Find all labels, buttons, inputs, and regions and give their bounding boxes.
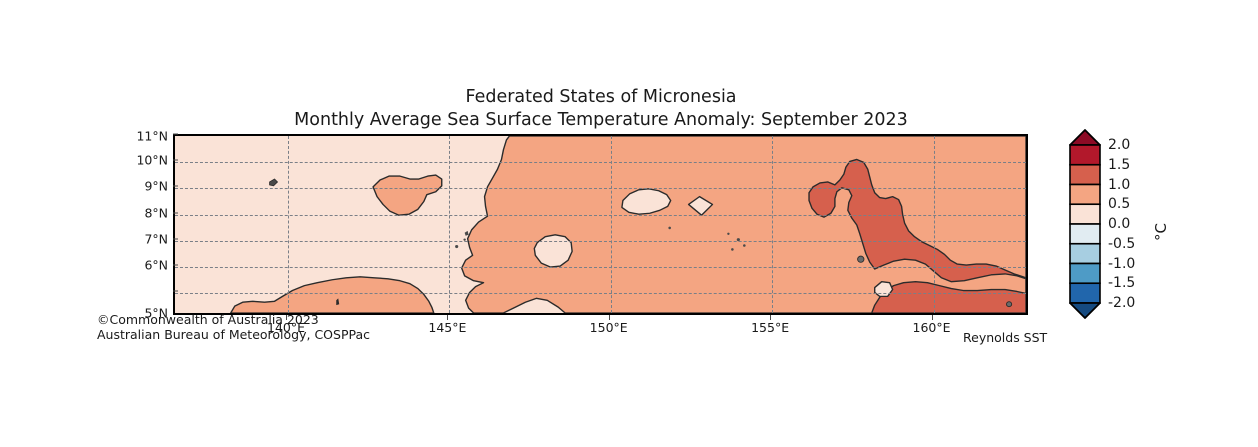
xtick-label-145E: 145°E — [428, 320, 466, 335]
xtick-mark-150E — [609, 315, 610, 320]
colorbar-unit-label: °C — [1152, 223, 1170, 241]
ytick-mark-10N — [173, 160, 178, 161]
credit-line-2: Australian Bureau of Meteorology, COSPPa… — [97, 328, 370, 343]
title-line-2: Monthly Average Sea Surface Temperature … — [173, 109, 1029, 132]
ytick-label-9N: 9°N — [144, 179, 168, 194]
ytick-label-7N: 7°N — [144, 231, 168, 246]
colorbar-tick--2.0: -2.0 — [1108, 295, 1135, 311]
xtick-mark-160E — [932, 315, 933, 320]
ytick-mark-11N — [173, 134, 178, 135]
sst-anomaly-heatmap — [175, 136, 1026, 313]
ytick-mark-9N — [173, 186, 178, 187]
xtick-mark-145E — [447, 315, 448, 320]
credit-line-1: ©Commonwealth of Australia 2023 — [97, 313, 370, 328]
ytick-label-6N: 6°N — [144, 258, 168, 273]
chart-title: Federated States of Micronesia Monthly A… — [173, 86, 1029, 132]
colorbar-tick--1.0: -1.0 — [1108, 256, 1135, 272]
ytick-label-10N: 10°N — [136, 153, 168, 168]
ytick-label-11N: 11°N — [136, 129, 168, 144]
xtick-mark-155E — [770, 315, 771, 320]
colorbar-tick-2.0: 2.0 — [1108, 137, 1130, 153]
xtick-label-155E: 155°E — [751, 320, 789, 335]
ytick-mark-6N — [173, 265, 178, 266]
figure-canvas: Federated States of Micronesia Monthly A… — [0, 0, 1258, 447]
data-source-note: Reynolds SST — [963, 330, 1047, 345]
colorbar-tick-1.0: 1.0 — [1108, 177, 1130, 193]
colorbar-tick-1.5: 1.5 — [1108, 157, 1130, 173]
xtick-label-160E: 160°E — [912, 320, 950, 335]
ytick-mark-7N — [173, 238, 178, 239]
ytick-mark-5N — [173, 291, 178, 292]
colorbar-tick--0.5: -0.5 — [1108, 236, 1135, 252]
colorbar-tick-0.0: 0.0 — [1108, 216, 1130, 232]
ytick-mark-8N — [173, 212, 178, 213]
copyright-credit: ©Commonwealth of Australia 2023 Australi… — [97, 313, 370, 342]
colorbar-tick-0.5: 0.5 — [1108, 196, 1130, 212]
ytick-label-8N: 8°N — [144, 205, 168, 220]
title-line-1: Federated States of Micronesia — [173, 86, 1029, 109]
xtick-label-150E: 150°E — [590, 320, 628, 335]
colorbar: 2.0 1.5 1.0 0.5 0.0 -0.5 -1.0 -1.5 -2.0 … — [1066, 127, 1186, 322]
map-plot-area — [173, 134, 1028, 315]
colorbar-tick--1.5: -1.5 — [1108, 275, 1135, 291]
